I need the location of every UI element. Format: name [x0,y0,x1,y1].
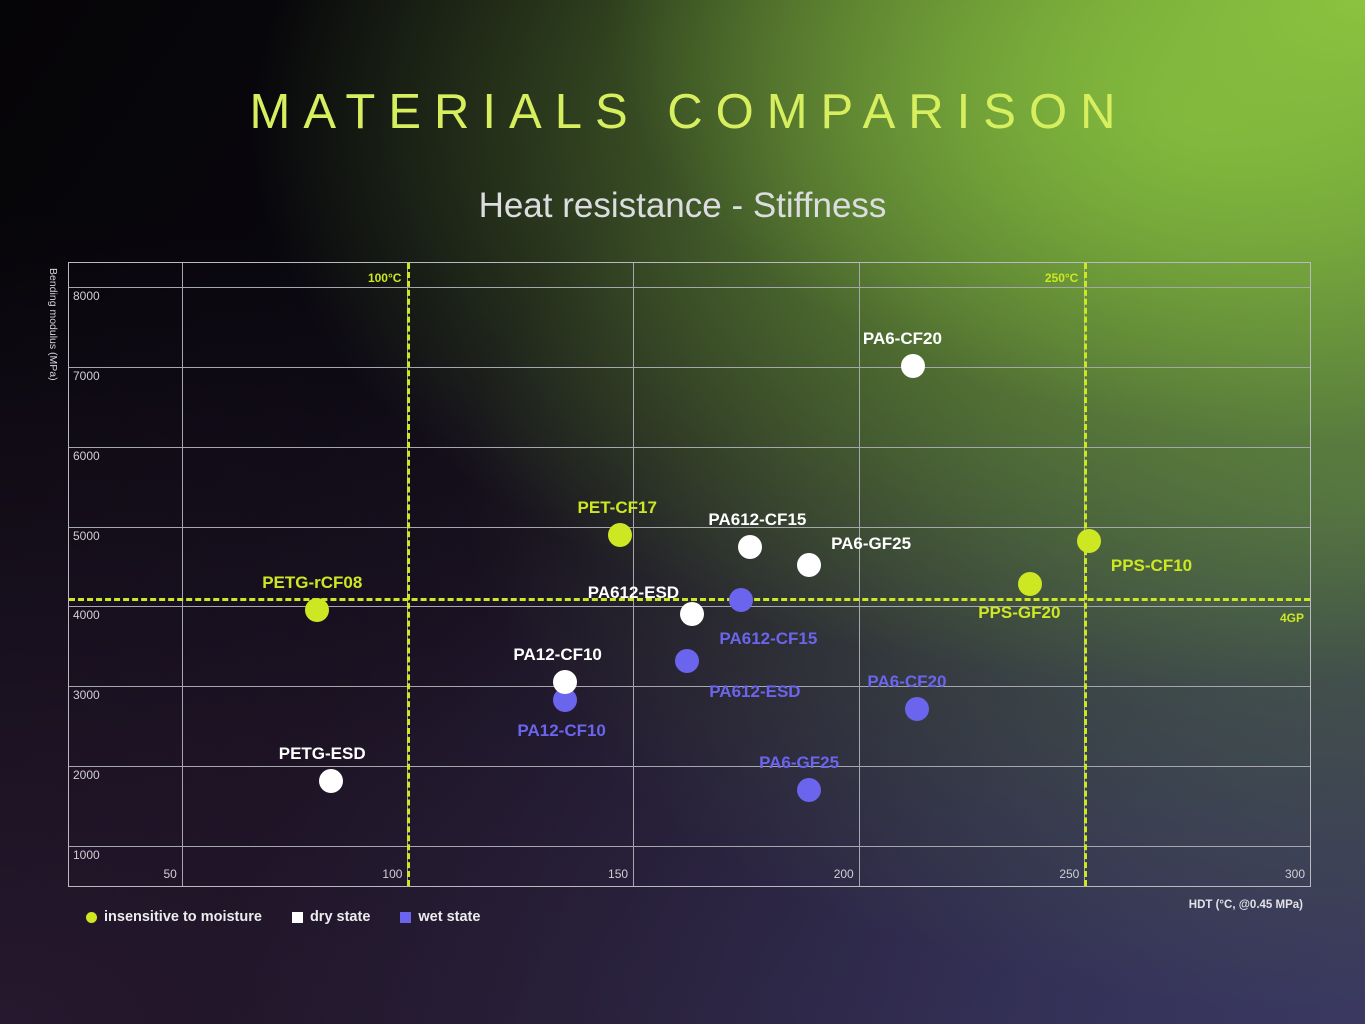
data-point-pet-cf17[interactable] [608,523,632,547]
x-tick-label: 300 [1285,868,1310,880]
x-axis-title: HDT (°C, @0.45 MPa) [1189,899,1303,911]
100C-threshold-label: 100°C [368,272,402,284]
250C-threshold-label: 250°C [1045,272,1079,284]
y-tick-label: 7000 [73,370,100,382]
data-point-pps-cf10[interactable] [1077,529,1101,553]
point-label-pet-cf17: PET-CF17 [578,499,657,516]
legend-label: insensitive to moisture [104,910,262,925]
100C-threshold [407,263,410,886]
y-gridline [69,287,1310,288]
x-tick-label: 250 [1059,868,1084,880]
x-tick-label: 200 [834,868,859,880]
y-gridline [69,766,1310,767]
x-gridline [859,263,860,886]
chart-subtitle: Heat resistance - Stiffness [0,186,1365,226]
page-title: MATERIALS COMPARISON [0,84,1365,140]
x-gridline [182,263,183,886]
point-label-pps-cf10: PPS-CF10 [1111,557,1192,574]
point-label-pa612-cf15: PA612-CF15 [719,630,817,647]
y-tick-label: 4000 [73,609,100,621]
y-tick-label: 1000 [73,849,100,861]
point-label-pa6-cf20: PA6-CF20 [863,330,942,347]
x-gridline [633,263,634,886]
data-point-pa612-cf15[interactable] [738,535,762,559]
point-label-pa6-cf20: PA6-CF20 [867,673,946,690]
data-point-pps-gf20[interactable] [1018,572,1042,596]
data-point-petg-rcf08[interactable] [305,598,329,622]
legend-item-1[interactable]: dry state [292,910,370,925]
data-point-petg-esd[interactable] [319,769,343,793]
y-gridline [69,527,1310,528]
y-tick-label: 6000 [73,450,100,462]
250C-threshold [1084,263,1087,886]
data-point-pa612-esd[interactable] [675,649,699,673]
y-tick-label: 8000 [73,290,100,302]
point-label-pa612-cf15: PA612-CF15 [708,511,806,528]
y-gridline [69,367,1310,368]
y-gridline [69,686,1310,687]
legend-item-0[interactable]: insensitive to moisture [86,910,262,925]
y-axis-title: Bending modulus (MPa) [47,268,59,448]
data-point-pa612-esd[interactable] [680,602,704,626]
point-label-petg-esd: PETG-ESD [279,745,366,762]
y-gridline [69,447,1310,448]
data-point-pa6-gf25[interactable] [797,778,821,802]
point-label-pa6-gf25: PA6-GF25 [831,535,911,552]
data-point-pa6-cf20[interactable] [905,697,929,721]
legend-label: wet state [418,910,480,925]
4GPa-threshold-label: 4GP [1280,612,1304,624]
x-tick-label: 150 [608,868,633,880]
point-label-pa612-esd: PA612-ESD [709,683,800,700]
legend-swatch-square-icon [292,912,303,923]
point-label-pa12-cf10: PA12-CF10 [513,646,602,663]
data-point-pa612-cf15[interactable] [729,588,753,612]
y-gridline [69,846,1310,847]
point-label-pa6-gf25: PA6-GF25 [759,754,839,771]
point-label-petg-rcf08: PETG-rCF08 [262,574,362,591]
point-label-pa12-cf10: PA12-CF10 [517,722,606,739]
x-tick-label: 50 [163,868,181,880]
slide-canvas: MATERIALS COMPARISON Heat resistance - S… [0,0,1365,1024]
point-label-pa612-esd: PA612-ESD [588,584,679,601]
legend-swatch-square-icon [400,912,411,923]
legend-item-2[interactable]: wet state [400,910,480,925]
scatter-plot-area: 1000200030004000500060007000800050100150… [68,262,1311,887]
y-tick-label: 2000 [73,769,100,781]
point-label-pps-gf20: PPS-GF20 [978,604,1060,621]
data-point-pa6-cf20[interactable] [901,354,925,378]
y-tick-label: 3000 [73,689,100,701]
legend-label: dry state [310,910,370,925]
x-tick-label: 100 [382,868,407,880]
data-point-pa12-cf10[interactable] [553,670,577,694]
y-tick-label: 5000 [73,530,100,542]
data-point-pa6-gf25[interactable] [797,553,821,577]
chart-legend: insensitive to moisturedry statewet stat… [86,910,480,925]
legend-swatch-circle-icon [86,912,97,923]
